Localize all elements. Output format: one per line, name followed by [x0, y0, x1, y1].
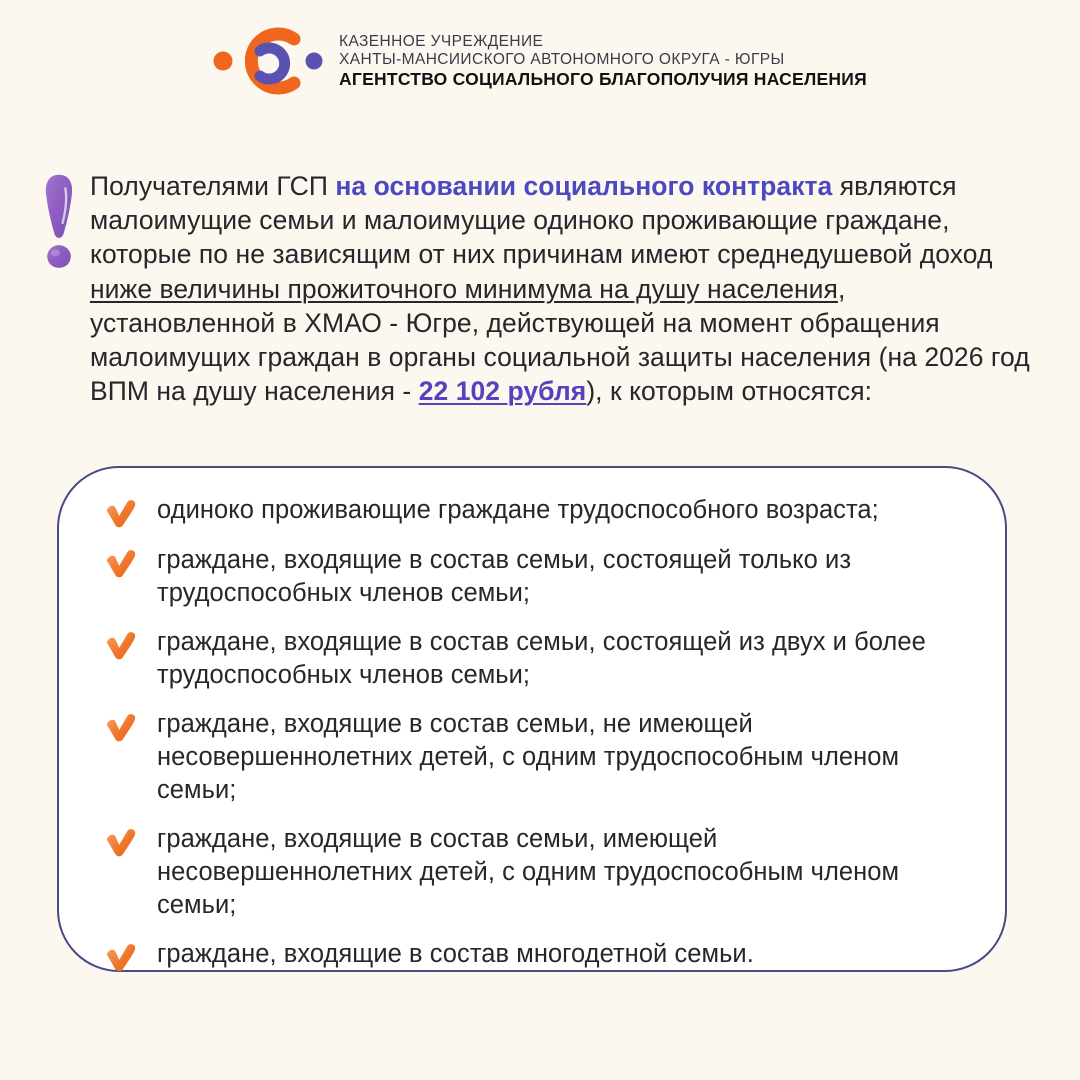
list-item-text: граждане, входящие в состав семьи, не им…	[157, 708, 959, 807]
exclamation-mark-icon	[28, 168, 90, 272]
intro-highlight-social-contract: на основании социального контракта	[335, 171, 832, 201]
list-item: граждане, входящие в состав многодетной …	[105, 938, 959, 972]
header: КАЗЕННОЕ УЧРЕЖДЕНИЕ ХАНТЫ-МАНСИИСКОГО АВ…	[0, 18, 1080, 104]
list-item: граждане, входящие в состав семьи, состо…	[105, 544, 959, 610]
intro-underline-minimum: ниже величины прожиточного минимума на д…	[90, 274, 838, 304]
logo-line-2: ХАНТЫ-МАНСИИСКОГО АВТОНОМНОГО ОКРУГА - Ю…	[339, 52, 867, 71]
logo-text-block: КАЗЕННОЕ УЧРЕЖДЕНИЕ ХАНТЫ-МАНСИИСКОГО АВ…	[339, 34, 867, 89]
list-item: граждане, входящие в состав семьи, состо…	[105, 626, 959, 692]
orange-checkmark-icon	[105, 544, 157, 578]
orange-checkmark-icon	[105, 626, 157, 660]
intro-part-4: ), к которым относятся:	[586, 376, 872, 406]
orange-checkmark-icon	[105, 823, 157, 857]
intro-amount-value: 22 102 рубля	[419, 376, 587, 406]
intro-paragraph: Получателями ГСП на основании социальног…	[90, 168, 1038, 408]
logo-lockup: КАЗЕННОЕ УЧРЕЖДЕНИЕ ХАНТЫ-МАНСИИСКОГО АВ…	[213, 24, 867, 98]
beneficiaries-list: одиноко проживающие граждане трудоспособ…	[105, 494, 959, 972]
list-item: граждане, входящие в состав семьи, не им…	[105, 708, 959, 807]
list-item-text: граждане, входящие в состав семьи, состо…	[157, 626, 959, 692]
list-item: одиноко проживающие граждане трудоспособ…	[105, 494, 959, 528]
orange-checkmark-icon	[105, 708, 157, 742]
beneficiaries-card: одиноко проживающие граждане трудоспособ…	[57, 466, 1007, 972]
logo-line-1: КАЗЕННОЕ УЧРЕЖДЕНИЕ	[339, 34, 867, 53]
orange-checkmark-icon	[105, 494, 157, 528]
intro-block: Получателями ГСП на основании социальног…	[28, 168, 1038, 408]
list-item-text: граждане, входящие в состав семьи, состо…	[157, 544, 959, 610]
intro-part-1: Получателями ГСП	[90, 171, 335, 201]
list-item-text: одиноко проживающие граждане трудоспособ…	[157, 494, 959, 527]
agency-logo-c-mark-icon	[213, 24, 325, 98]
list-item: граждане, входящие в состав семьи, имеющ…	[105, 823, 959, 922]
logo-line-3: АГЕНТСТВО СОЦИАЛЬНОГО БЛАГОПОЛУЧИЯ НАСЕЛ…	[339, 71, 867, 89]
orange-checkmark-icon	[105, 938, 157, 972]
list-item-text: граждане, входящие в состав семьи, имеющ…	[157, 823, 959, 922]
list-item-text: граждане, входящие в состав многодетной …	[157, 938, 959, 971]
